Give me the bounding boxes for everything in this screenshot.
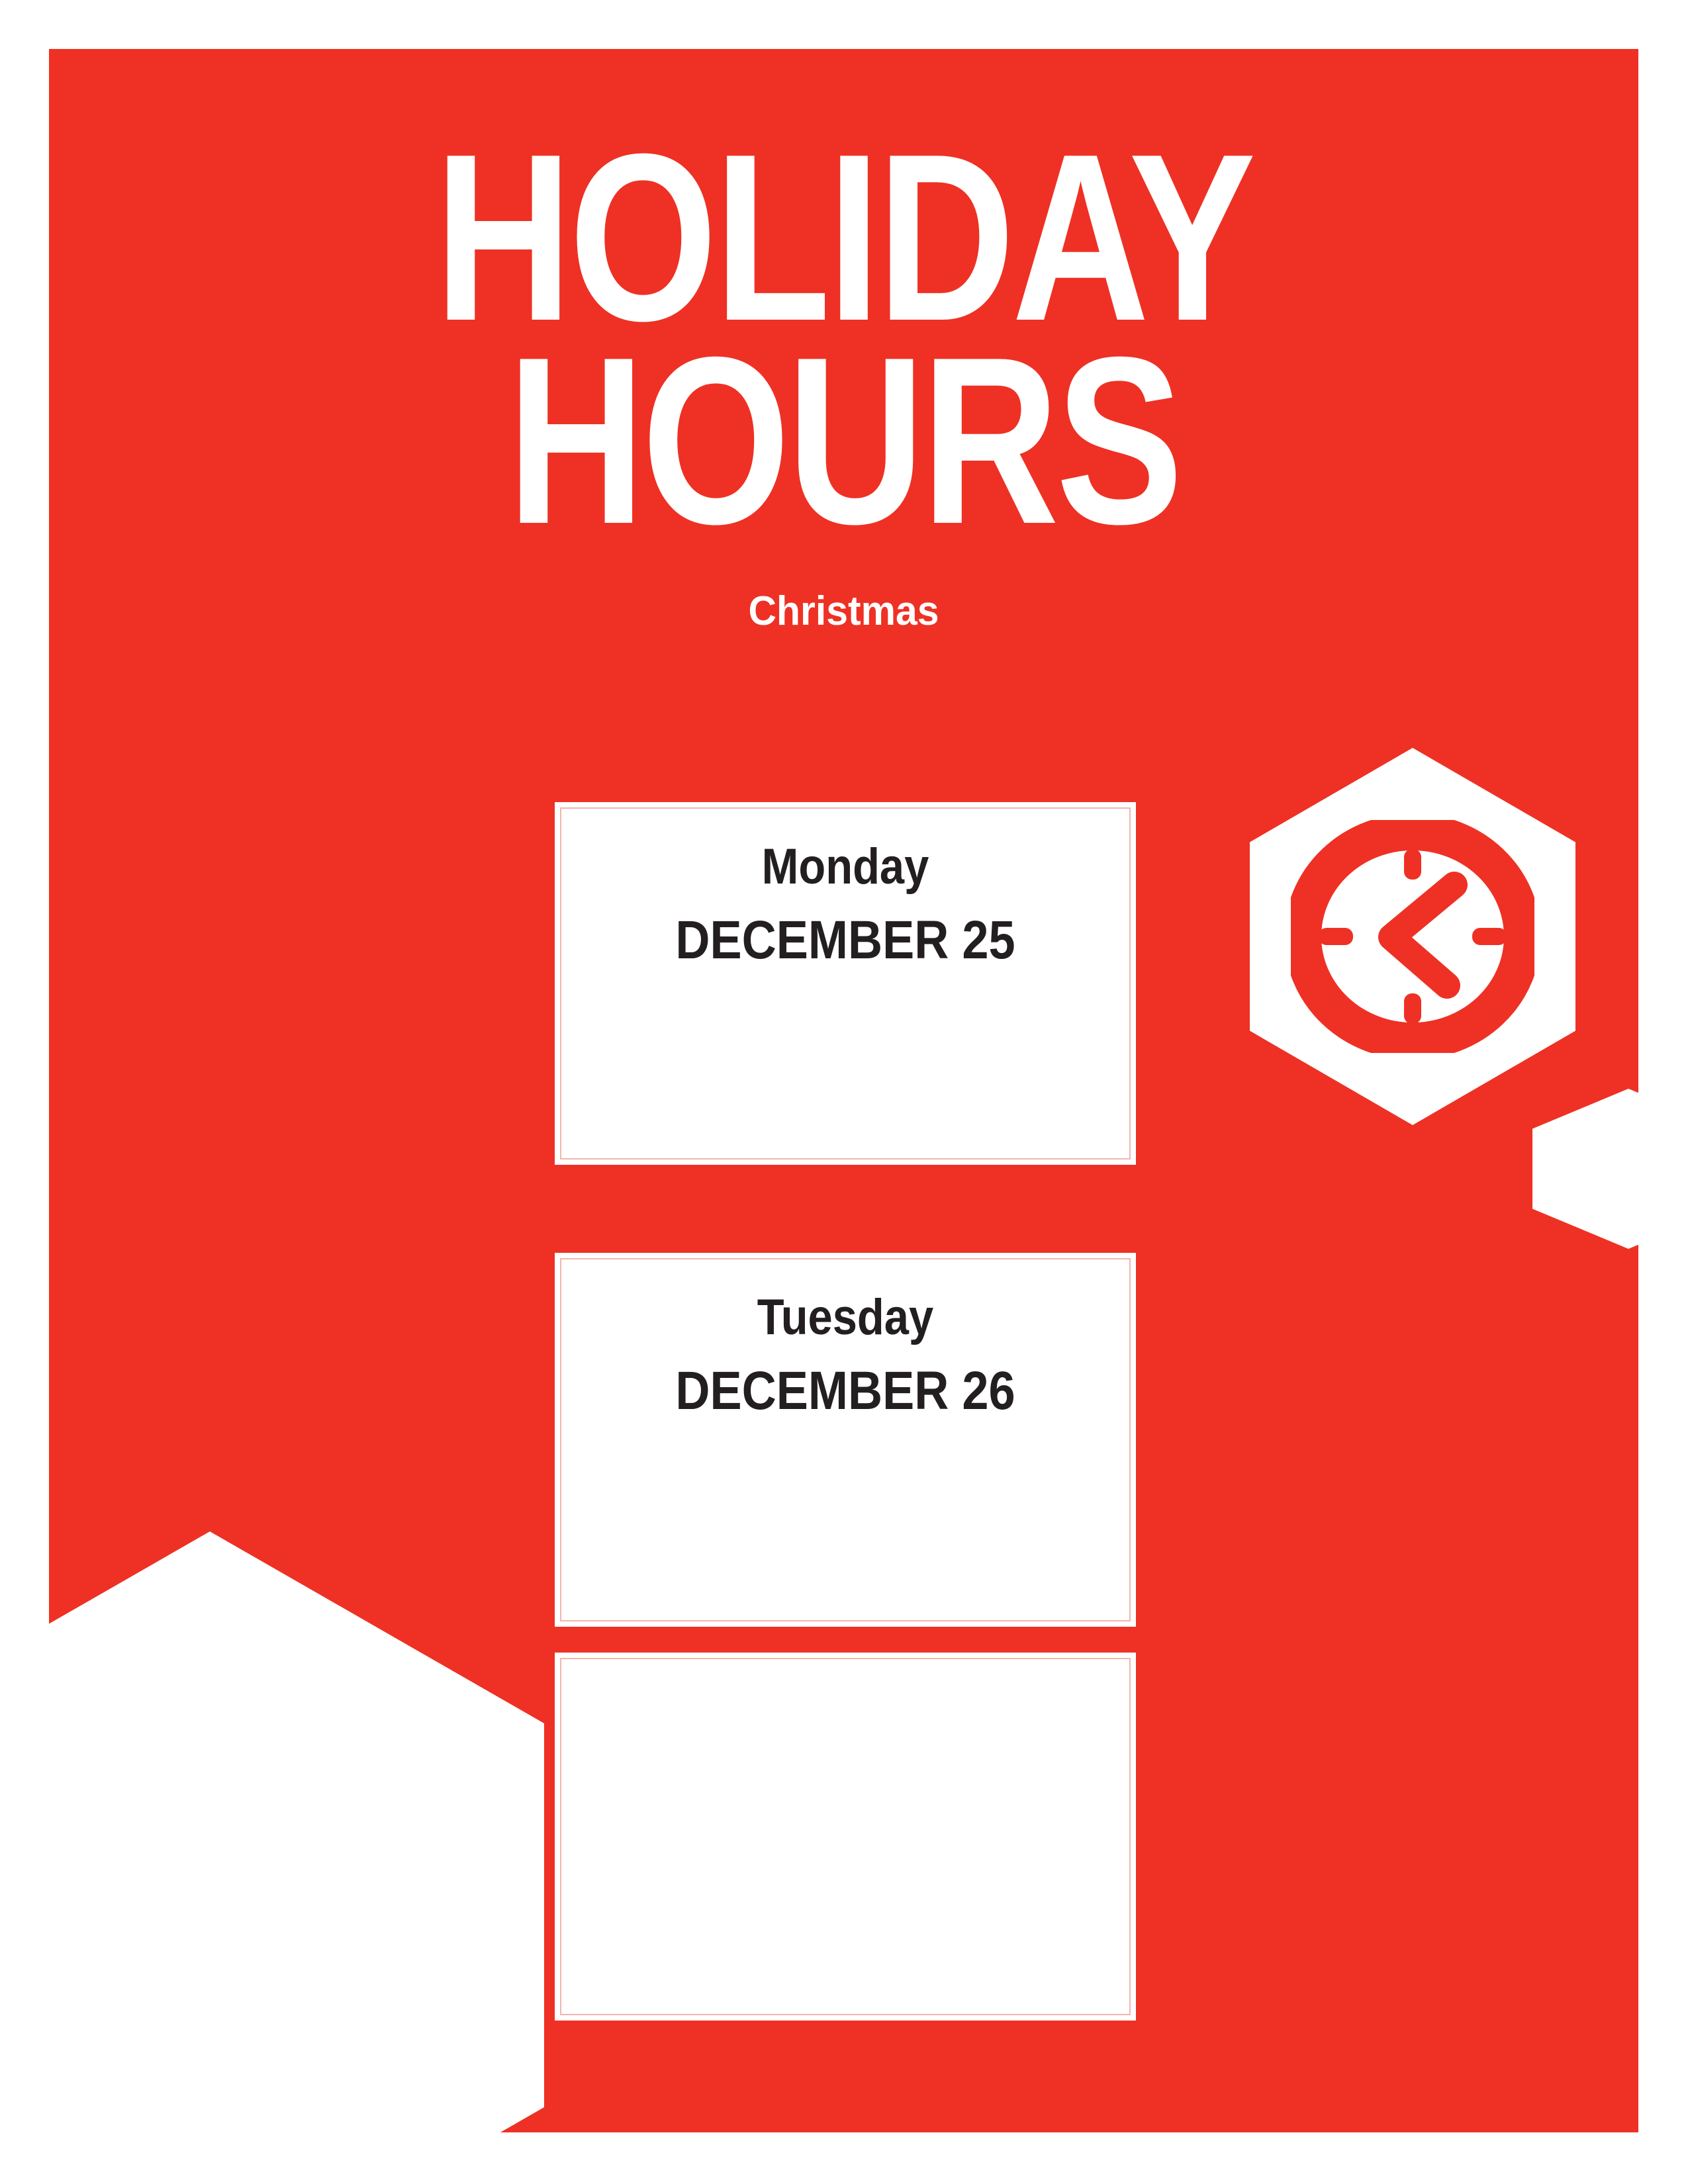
hexagon-shape-bottom-left — [49, 1531, 544, 2132]
clock-icon — [1291, 820, 1534, 1053]
holiday-date-card-inner: Tuesday DECEMBER 26 — [560, 1258, 1131, 1621]
poster-canvas: HOLIDAY HOURS Christmas Monday DECEMBER … — [0, 0, 1688, 2184]
page-title-line-2: HOURS — [208, 332, 1479, 551]
red-background-panel: HOLIDAY HOURS Christmas Monday DECEMBER … — [49, 49, 1638, 2132]
holiday-date-card[interactable] — [555, 1653, 1136, 2021]
holiday-date-card[interactable]: Monday DECEMBER 25 — [555, 802, 1136, 1165]
title-block: HOLIDAY HOURS Christmas — [49, 49, 1638, 635]
hexagon-shape-right-edge — [1532, 1089, 1638, 1249]
page-subtitle: Christmas — [89, 588, 1599, 635]
holiday-date-card-inner: Monday DECEMBER 25 — [560, 807, 1131, 1160]
holiday-date-card-inner — [560, 1658, 1131, 2015]
holiday-date-card[interactable]: Tuesday DECEMBER 26 — [555, 1253, 1136, 1627]
holiday-weekday-label: Monday — [595, 841, 1095, 893]
holiday-date-label: DECEMBER 25 — [595, 912, 1095, 969]
holiday-date-label: DECEMBER 26 — [595, 1363, 1095, 1420]
holiday-weekday-label: Tuesday — [595, 1291, 1095, 1344]
